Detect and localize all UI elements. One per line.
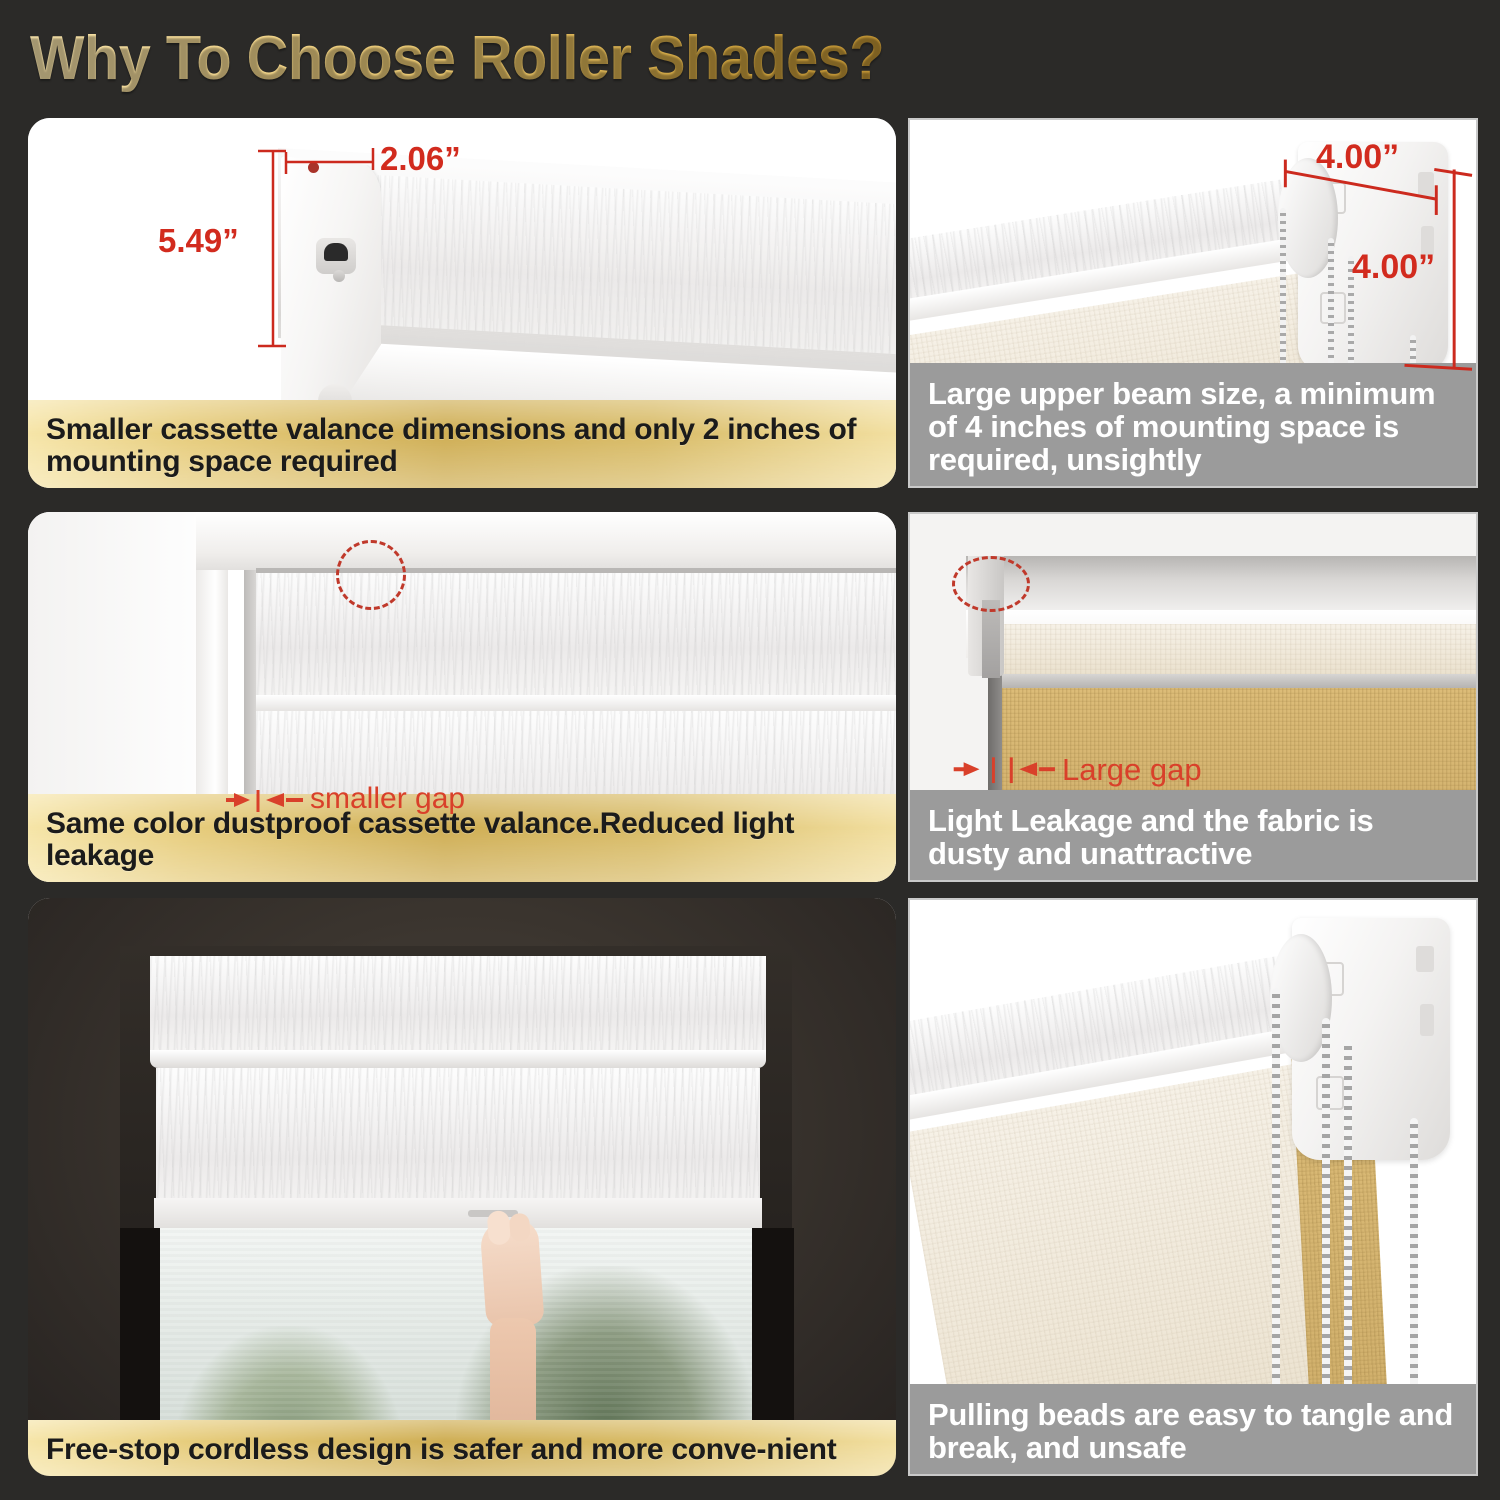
frame-top-molding <box>196 512 896 570</box>
dimension-label-height-2: 4.00” <box>1352 248 1435 287</box>
gap-label-large: Large gap <box>1062 752 1202 788</box>
page-title-text: Why To Choose Roller Shades? <box>30 23 884 94</box>
headrail-texture <box>150 956 766 1056</box>
headrail-lip <box>150 1050 766 1068</box>
shade-fabric-main <box>156 1068 760 1218</box>
dimension-label-width-2: 4.00” <box>1316 138 1399 177</box>
bottom-rail <box>990 674 1476 688</box>
panel-smaller-gap: smaller gap Same color dustproof cassett… <box>28 512 896 882</box>
panel-4-caption: Light Leakage and the fabric is dusty an… <box>910 790 1476 880</box>
dimension-label-width: 2.06” <box>380 140 461 178</box>
panel-cordless-design: Free-stop cordless design is safer and m… <box>28 898 896 1476</box>
panel-5-photo <box>28 898 896 1476</box>
highlight-circle-small-gap <box>336 540 406 610</box>
gap-label-small: smaller gap <box>310 782 465 816</box>
roller-tube-gray <box>966 556 1476 616</box>
shade-slat-divider <box>256 695 896 711</box>
panel-2-caption: Large upper beam size, a minimum of 4 in… <box>910 363 1476 486</box>
panel-pulling-beads: Pulling beads are easy to tangle and bre… <box>908 898 1478 1476</box>
dimension-label-height: 5.49” <box>158 222 239 260</box>
panel-1-caption: Smaller cassette valance dimensions and … <box>28 400 896 488</box>
hand-illustration <box>479 1218 544 1328</box>
shade-bottom-rail <box>154 1198 762 1228</box>
panel-smaller-cassette: 5.49” 2.06” Smaller cassette valance dim… <box>28 118 896 488</box>
page-title: Why To Choose Roller Shades? <box>30 22 1130 94</box>
end-cap-screw-top <box>308 162 319 173</box>
panel-large-gap: Large gap Light Leakage and the fabric i… <box>908 512 1478 882</box>
panel-6-caption: Pulling beads are easy to tangle and bre… <box>910 1384 1476 1474</box>
end-cap-screw-mid <box>333 270 345 282</box>
cream-band <box>990 624 1476 680</box>
panel-large-upper-beam: 4.00” 4.00” Large upper beam size, a min… <box>908 118 1478 488</box>
highlight-circle-large-gap <box>952 556 1030 612</box>
panel-5-caption: Free-stop cordless design is safer and m… <box>28 1420 896 1476</box>
end-cap-slot <box>316 238 356 274</box>
